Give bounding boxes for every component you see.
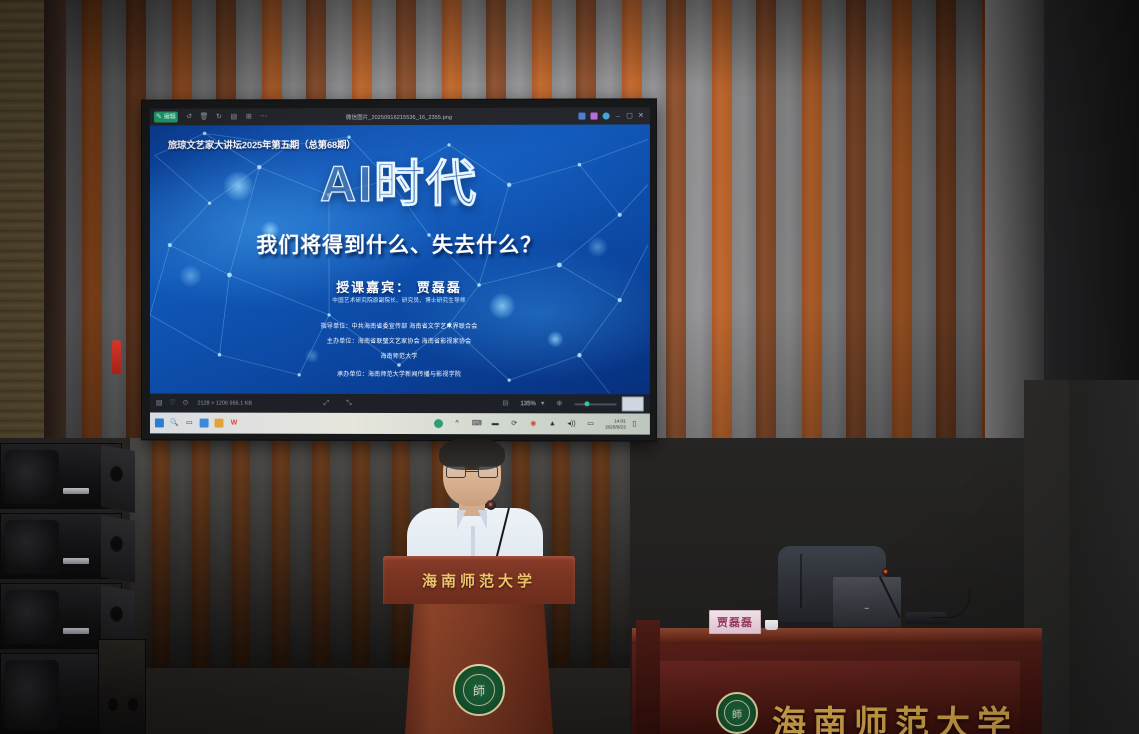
slide-org-line: 承办单位：海南师范大学新闻传播与影视学院 xyxy=(150,369,650,379)
viewer-center-controls: ⤢ ⤡ xyxy=(324,400,359,407)
laptop-logo: ▬ xyxy=(865,605,870,610)
explorer-icon[interactable] xyxy=(200,419,209,428)
slide-guest-line: 授课嘉宾： 贾磊磊 xyxy=(150,277,650,296)
taskview-icon[interactable]: ▭ xyxy=(185,419,194,428)
speaker-cabinet xyxy=(0,443,122,509)
delete-icon[interactable]: 🗑 xyxy=(199,111,210,122)
speaker-person xyxy=(415,440,535,575)
minimize-icon[interactable]: ﹘ xyxy=(614,112,621,119)
clock-date: 2025/9/23 xyxy=(605,424,626,430)
actual-size-icon[interactable]: ⤡ xyxy=(346,400,352,407)
podium-emblem: 師 xyxy=(453,664,505,716)
zoom-level-label: 135% xyxy=(520,401,535,407)
slide-subheadline: 我们将得到什么、失去什么？ xyxy=(150,229,650,259)
desk-nameplate: 贾磊磊 xyxy=(709,610,761,634)
rotate-right-icon[interactable]: ↻ xyxy=(213,111,224,122)
line-array-speaker-stack xyxy=(0,443,135,734)
chevron-up-icon[interactable]: ^ xyxy=(453,419,462,428)
slide-kicker: 旅琼文艺家大讲坛2025年第五期（总第68期） xyxy=(168,137,356,151)
guest-name: 贾磊磊 xyxy=(417,280,462,295)
share-icon[interactable] xyxy=(578,113,585,120)
battery-icon[interactable]: ▭ xyxy=(586,419,595,428)
eyeglasses xyxy=(446,466,498,478)
taskbar-clock[interactable]: 14:01 2025/9/23 xyxy=(605,418,626,430)
microphone-led xyxy=(489,503,492,506)
wps-icon[interactable]: W xyxy=(229,419,238,428)
desk-microphone-led xyxy=(884,570,887,573)
shirt-collar-right xyxy=(478,510,487,530)
pencil-icon: ✎ xyxy=(156,114,162,121)
edit-button[interactable]: ✎ 编辑 xyxy=(154,112,178,123)
album-icon[interactable] xyxy=(590,113,597,120)
slide-org-line: 海南师范大学 xyxy=(150,351,650,361)
maximize-icon[interactable]: ▢ xyxy=(626,112,633,119)
subwoofer-cabinet xyxy=(98,639,146,734)
guest-label: 授课嘉宾： xyxy=(336,280,411,295)
slide-org-line: 指导单位：中共海南省委宣传部 海南省文学艺术界联合会 xyxy=(150,321,650,330)
zoom-out-icon[interactable]: ⊟ xyxy=(502,400,508,407)
wifi-icon[interactable]: ▲ xyxy=(548,419,557,428)
display-screen: ✎ 编辑 ↺ 🗑 ↻ ▤ ⊞ ⋯ 微信图片_20250916215536_16_… xyxy=(150,107,650,434)
edit-button-label: 编辑 xyxy=(164,114,176,120)
slide-content: 旅琼文艺家大讲坛2025年第五期（总第68期） AI时代 我们将得到什么、失去什… xyxy=(150,124,650,394)
mic-icon[interactable]: ▬ xyxy=(491,419,500,428)
slide-org-line: 主办单位：海南省联璧文艺家协会 海南省影视家协会 xyxy=(150,336,650,346)
more-icon[interactable]: ⋯ xyxy=(258,111,269,122)
image-metadata: 2128 × 1206 956.1 KB xyxy=(197,400,252,406)
favorite-icon[interactable]: ♡ xyxy=(169,400,175,407)
rotate-left-icon[interactable]: ↺ xyxy=(184,111,195,122)
zoom-slider[interactable] xyxy=(574,403,616,405)
keyboard-icon[interactable]: ⌨ xyxy=(472,419,481,428)
slide-headline: AI时代 xyxy=(150,159,650,210)
desk-emblem: 師 xyxy=(716,692,758,734)
thumbnail-icon[interactable]: ▤ xyxy=(156,400,163,407)
speaker-cabinet xyxy=(0,513,122,579)
close-icon[interactable]: ✕ xyxy=(638,112,644,119)
desk-left-block xyxy=(636,620,660,734)
folder-icon[interactable] xyxy=(215,419,224,428)
chevron-down-icon[interactable]: ▾ xyxy=(541,400,545,407)
podium-emblem-glyph: 師 xyxy=(463,674,495,706)
cloud-icon[interactable] xyxy=(602,113,609,120)
start-icon[interactable] xyxy=(155,418,164,427)
slide-guest-title: 中国艺术研究院原副院长、研究员、博士研究生导师 xyxy=(150,296,650,304)
desk-emblem-glyph: 師 xyxy=(724,700,750,726)
wall-display: ✎ 编辑 ↺ 🗑 ↻ ▤ ⊞ ⋯ 微信图片_20250916215536_16_… xyxy=(141,98,657,441)
fire-extinguisher xyxy=(112,340,121,374)
crop-icon[interactable]: ⊞ xyxy=(243,111,254,122)
paper-cup xyxy=(765,620,778,630)
desk-surface xyxy=(632,628,1042,644)
viewer-filename: 微信图片_20250916215536_16_2355.png xyxy=(150,112,650,121)
viewer-zoom-controls: ⊟ 135% ▾ ⊕ xyxy=(502,396,643,411)
viewer-bottom-toolbar: ▤ ♡ ⊙ 2128 × 1206 956.1 KB ⤢ ⤡ ⊟ 135% ▾ … xyxy=(150,394,650,414)
lecture-hall-photo: ✎ 编辑 ↺ 🗑 ↻ ▤ ⊞ ⋯ 微信图片_20250916215536_16_… xyxy=(0,0,1139,734)
podium: 海南师范大学 師 xyxy=(383,556,575,734)
podium-engraved-text: 海南师范大学 xyxy=(383,570,575,591)
info-icon[interactable]: ⊙ xyxy=(183,400,189,407)
nameplate-text: 贾磊磊 xyxy=(717,614,753,630)
ime-icon[interactable] xyxy=(434,419,443,428)
presentation-slide: 旅琼文艺家大讲坛2025年第五期（总第68期） AI时代 我们将得到什么、失去什… xyxy=(150,124,650,394)
search-icon[interactable]: 🔍 xyxy=(170,418,179,427)
titlebar-right-group: ﹘ ▢ ✕ xyxy=(578,112,646,119)
image-viewer-titlebar: ✎ 编辑 ↺ 🗑 ↻ ▤ ⊞ ⋯ 微信图片_20250916215536_16_… xyxy=(150,107,650,125)
left-dark-column xyxy=(44,0,66,470)
windows-taskbar: 🔍 ▭ W ^ ⌨ ▬ ⟳ ◉ ▲ ◂)) ▭ 14:01 xyxy=(150,412,650,434)
fit-screen-icon[interactable]: ⤢ xyxy=(324,400,330,407)
volume-icon[interactable]: ◂)) xyxy=(567,419,576,428)
shield-icon[interactable]: ◉ xyxy=(529,419,538,428)
save-icon[interactable]: ▤ xyxy=(228,111,239,122)
notification-icon[interactable]: ▯ xyxy=(630,420,639,429)
zoom-in-icon[interactable]: ⊕ xyxy=(556,400,562,407)
update-icon[interactable]: ⟳ xyxy=(510,419,519,428)
shirt-collar-left xyxy=(457,510,466,530)
image-thumbnail[interactable] xyxy=(622,396,644,411)
desk-banner-text: 海南师范大学 xyxy=(772,696,1018,734)
taskbar-tray: ^ ⌨ ▬ ⟳ ◉ ▲ ◂)) ▭ 14:01 2025/9/23 ▯ xyxy=(434,418,645,430)
